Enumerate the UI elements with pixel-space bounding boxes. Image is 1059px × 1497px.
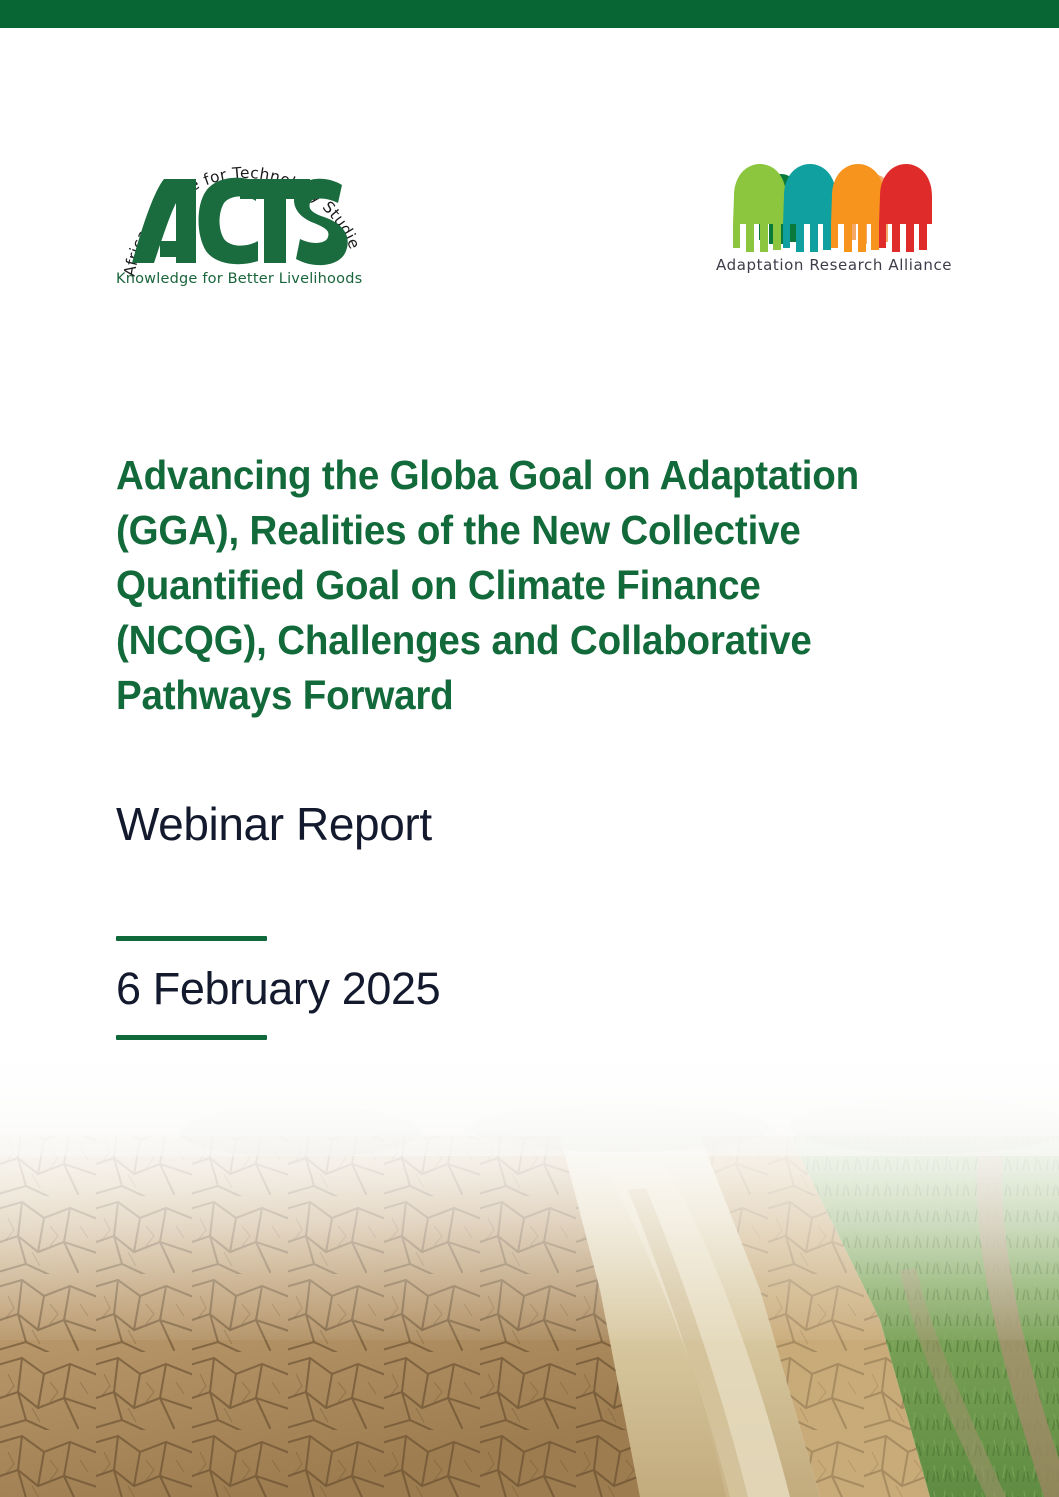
ara-tagline: Adaptation Research Alliance — [716, 256, 946, 274]
acts-wordmark — [120, 171, 350, 271]
drought-and-green-field-photo — [0, 1040, 1059, 1497]
publication-date: 6 February 2025 — [116, 941, 536, 1035]
page-title: Advancing the Globa Goal on Adaptation (… — [116, 448, 906, 723]
top-green-band — [0, 0, 1059, 28]
adaptation-research-alliance-logo: Adaptation Research Alliance — [716, 158, 946, 298]
document-type-subtitle: Webinar Report — [116, 796, 432, 852]
title-block: Advancing the Globa Goal on Adaptation (… — [116, 448, 956, 723]
cover-page: African Centre for Technology Studies Kn… — [0, 0, 1059, 1497]
ara-hand-orange — [831, 164, 884, 252]
date-block: 6 February 2025 — [116, 936, 536, 1040]
logo-row: African Centre for Technology Studies Kn… — [0, 28, 1059, 328]
ara-hands-icon — [726, 158, 936, 254]
acts-tagline: Knowledge for Better Livelihoods — [116, 271, 356, 287]
acts-logo: African Centre for Technology Studies Kn… — [112, 133, 362, 313]
photo-illustration — [0, 1040, 1059, 1497]
